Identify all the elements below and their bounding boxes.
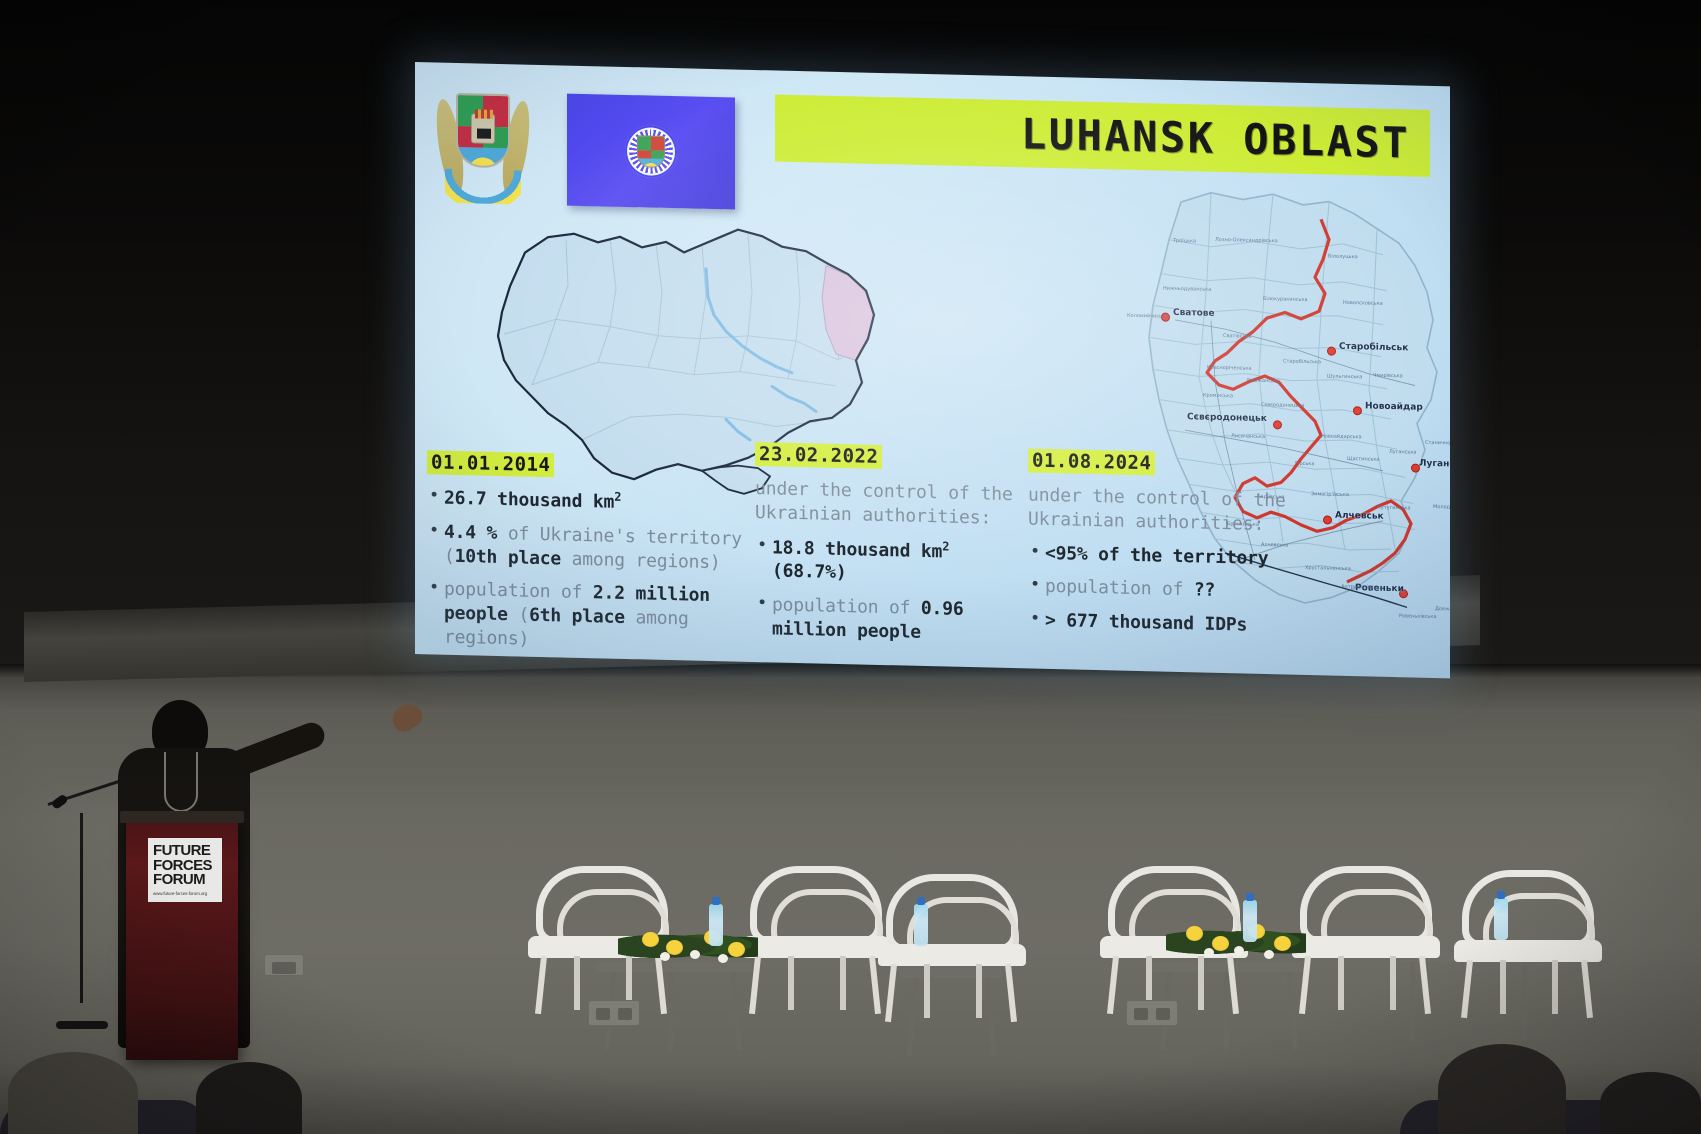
city-dot-severodonetsk — [1273, 420, 1282, 429]
water-bottle — [914, 904, 928, 946]
hromada-label: Старобільська — [1283, 358, 1321, 365]
bullet-text-run: > 677 thousand IDPs — [1045, 610, 1247, 636]
wall-socket — [1126, 1000, 1178, 1026]
bullet-item: population of 2.2 million people (6th pl… — [427, 578, 757, 657]
bullet-text-run: <95% of the territory — [1045, 542, 1268, 568]
stats-column-2024: 01.08.2024 under the control of the Ukra… — [1028, 448, 1318, 649]
bullet-text-run: 2 — [614, 490, 621, 504]
city-label-novoaidar: Новоайдар — [1365, 401, 1423, 412]
stats-column-2022: 23.02.2022 under the control of the Ukra… — [755, 442, 1013, 657]
hromada-label: Сєвєродонецька — [1261, 402, 1304, 409]
audience-head — [1438, 1044, 1566, 1134]
hromada-label: Довжанська — [1435, 606, 1450, 613]
lead-text-2024: under the control of the Ukrainian autho… — [1028, 483, 1318, 537]
hromada-label: Лутугинська — [1377, 505, 1411, 512]
water-bottle — [1494, 898, 1508, 940]
city-label-luhansk: Луганськ — [1419, 459, 1450, 470]
bullet-text-run: 26.7 thousand km — [444, 488, 614, 513]
audience-head — [8, 1052, 138, 1134]
water-bottle — [709, 904, 723, 946]
bullet-item: > 677 thousand IDPs — [1028, 608, 1318, 639]
city-label-svatove: Сватове — [1173, 308, 1215, 319]
bullet-text-run: 2 — [942, 539, 949, 553]
bullet-text-run: 10th place — [455, 545, 561, 569]
chair — [872, 874, 1032, 1024]
hromada-label: Кремінська — [1203, 393, 1233, 400]
hromada-label: Новопсковська — [1343, 300, 1383, 307]
hromada-label: Антрацитівська — [1341, 584, 1383, 591]
conference-room: LUHANSK OBLAST — [0, 0, 1701, 1134]
bullet-item: 4.4 % of Ukraine's territory (10th place… — [427, 520, 757, 575]
flower-arrangement — [1156, 906, 1316, 962]
hromada-label: Щастинська — [1347, 456, 1380, 463]
bullet-list-2022: 18.8 thousand km2 (68.7%)population of 0… — [755, 535, 1013, 647]
hromada-label: Білолуцька — [1328, 254, 1358, 261]
speaker-podium: FUTURE FORCES FORUM www.future-forces-fo… — [126, 820, 238, 1060]
microphone-icon — [51, 793, 69, 810]
bullet-item: 18.8 thousand km2 (68.7%) — [755, 535, 1013, 590]
flag-icon — [567, 94, 735, 210]
city-dot-starobilsk — [1327, 346, 1336, 355]
flower-arrangement — [608, 910, 768, 966]
date-chip-2024: 01.08.2024 — [1028, 448, 1155, 475]
city-label-alchevsk: Алчевськ — [1335, 511, 1384, 522]
page-title: LUHANSK OBLAST — [1021, 109, 1410, 167]
city-dot-alchevsk — [1323, 515, 1332, 524]
bullet-text-run: population of — [1045, 576, 1194, 601]
audience-head — [1600, 1072, 1701, 1134]
hromada-label: Ровеньківська — [1399, 613, 1436, 620]
bullet-item: population of ?? — [1028, 575, 1318, 606]
stats-column-2014: 01.01.2014 26.7 thousand km24.4 % of Ukr… — [427, 450, 757, 666]
city-dot-novoaidar — [1353, 406, 1362, 415]
wall-socket — [588, 1000, 640, 1026]
hromada-label: Коломийчиська — [1127, 313, 1168, 320]
bullet-item: population of 0.96 million people — [755, 593, 1013, 647]
hromada-label: Чмирівська — [1373, 373, 1403, 380]
hromada-label: Білокуракинська — [1263, 296, 1308, 303]
lead-text-2022: under the control of the Ukrainian autho… — [755, 477, 1013, 531]
bullet-text-run: (68.7%) — [772, 561, 846, 584]
coat-of-arms-icon — [437, 87, 529, 207]
bullet-text-run: population of — [444, 579, 593, 604]
lanyard — [164, 752, 198, 812]
date-chip-2022: 23.02.2022 — [755, 442, 882, 469]
projection-screen: LUHANSK OBLAST — [415, 62, 1450, 678]
city-label-starobilsk: Старобільськ — [1339, 342, 1408, 354]
bullet-list-2014: 26.7 thousand km24.4 % of Ukraine's terr… — [427, 485, 757, 656]
hromada-label: Сватівська — [1223, 333, 1252, 340]
bullet-text-run: population of — [772, 594, 921, 619]
bullet-text-run: 18.8 thousand km — [772, 537, 942, 562]
brand-url: www.future-forces-forum.org — [153, 891, 207, 896]
bullet-text-run: 4.4 % — [444, 521, 497, 543]
hromada-label: Троїцька — [1173, 238, 1196, 245]
bullet-list-2024: <95% of the territorypopulation of ??> 6… — [1028, 541, 1318, 639]
wall-socket — [264, 954, 304, 976]
bullet-item: <95% of the territory — [1028, 541, 1318, 572]
hromada-label: Рубіжанська — [1247, 378, 1280, 385]
bullet-text-run: among regions) — [561, 548, 721, 573]
slide-title-band: LUHANSK OBLAST — [775, 94, 1430, 176]
chair — [1448, 870, 1608, 1020]
hromada-label: Новоайдарська — [1321, 433, 1362, 440]
city-label-severodonetsk: Сєвєродонецьк — [1187, 412, 1267, 424]
bullet-item: 26.7 thousand km2 — [427, 485, 757, 518]
bullet-text-run: 6th place — [529, 605, 625, 628]
hromada-label: Лисичанська — [1231, 433, 1265, 440]
podium-branding-plate: FUTURE FORCES FORUM www.future-forces-fo… — [148, 838, 222, 902]
hromada-label: Нижньодуванська — [1163, 286, 1211, 293]
hromada-label: Луганська — [1389, 449, 1416, 456]
bullet-text-run: ?? — [1194, 580, 1215, 602]
audience-head — [196, 1062, 302, 1134]
date-chip-2014: 01.01.2014 — [427, 450, 554, 477]
presentation-slide: LUHANSK OBLAST — [415, 62, 1450, 678]
bullet-text-run: ( — [508, 604, 529, 626]
brand-line-3: FORUM — [153, 873, 205, 888]
hromada-label: Красноріченська — [1207, 365, 1252, 372]
hromada-label: Шульгинська — [1327, 373, 1362, 380]
water-bottle — [1243, 900, 1257, 942]
